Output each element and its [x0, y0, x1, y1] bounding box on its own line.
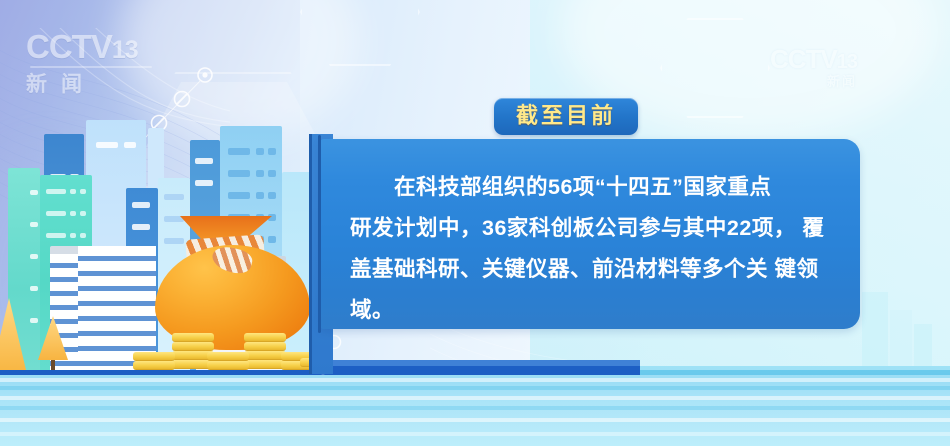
water-stripe	[0, 396, 950, 400]
broadcast-graphic: 截至目前 在科技部组织的56项“十四五”国家重点 研发计划中，36家科创板公司参…	[0, 0, 950, 446]
text-panel: 在科技部组织的56项“十四五”国家重点 研发计划中，36家科创板公司参与其中22…	[320, 139, 860, 329]
watermark-cctv: CCTV	[770, 44, 837, 74]
channel-logo: CCTV13 新闻	[26, 30, 156, 98]
coin-stack	[133, 352, 175, 371]
coin-stack	[207, 352, 249, 371]
panel-text-line-1: 在科技部组织的56项“十四五”国家重点	[350, 167, 834, 208]
water-stripe	[0, 432, 950, 436]
water-band	[0, 366, 950, 446]
panel-text: 在科技部组织的56项“十四五”国家重点 研发计划中，36家科创板公司参与其中22…	[350, 167, 834, 331]
background-buildings-right	[862, 275, 932, 370]
water-stripe	[0, 386, 950, 390]
hexagon-outline	[300, 0, 420, 66]
channel-logo-top: CCTV13	[26, 30, 156, 67]
watermark-number: 13	[837, 51, 857, 73]
water-stripe	[0, 406, 950, 410]
coin-stack	[244, 333, 286, 370]
status-badge: 截至目前	[494, 98, 638, 135]
panel-text-line-2: 研发计划中，36家科创板公司参与其中22项，	[350, 216, 796, 240]
water-stripe	[0, 378, 950, 382]
channel-logo-divider	[30, 66, 152, 68]
channel-logo-cctv: CCTV	[26, 28, 112, 65]
hexagon-outline	[660, 18, 770, 118]
accent-bar-edge	[309, 134, 312, 374]
channel-logo-sub: 新闻	[26, 68, 156, 98]
badge-label: 截至目前	[516, 103, 616, 128]
corner-watermark: CCTV13 新闻	[770, 44, 857, 90]
water-stripe	[0, 418, 950, 422]
channel-logo-number: 13	[112, 36, 138, 64]
